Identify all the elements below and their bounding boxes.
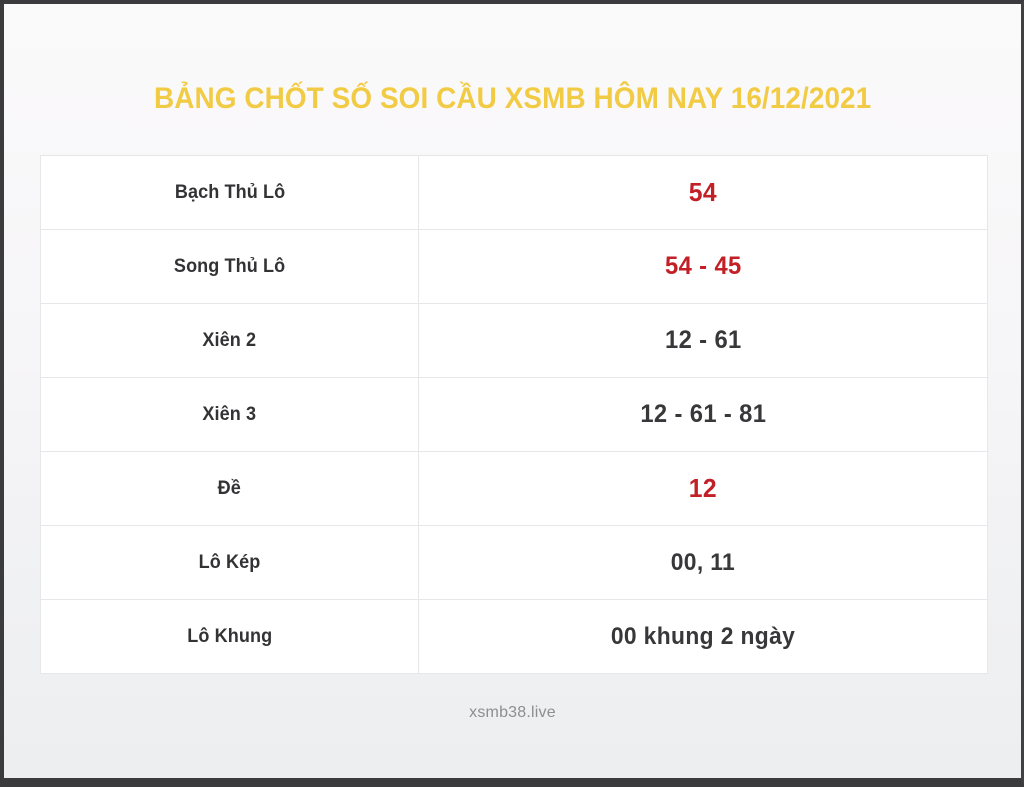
row-label-cell: Đề (41, 452, 419, 526)
table-row: Bạch Thủ Lô 54 (41, 156, 988, 230)
table-row: Song Thủ Lô 54 - 45 (41, 230, 988, 304)
row-value: 00, 11 (671, 549, 735, 577)
site-watermark: xsmb38.live (469, 704, 556, 721)
table-row: Lô Kép 00, 11 (41, 526, 988, 600)
row-label: Lô Kép (199, 552, 261, 574)
row-value: 12 - 61 (665, 326, 742, 355)
row-label-cell: Xiên 3 (41, 378, 419, 452)
page-canvas: BẢNG CHỐT SỐ SOI CẦU XSMB HÔM NAY 16/12/… (4, 4, 1021, 778)
screenshot-frame: BẢNG CHỐT SỐ SOI CẦU XSMB HÔM NAY 16/12/… (0, 0, 1024, 787)
row-value-cell: 12 - 61 (419, 304, 988, 378)
row-label: Xiên 2 (203, 330, 257, 352)
table-row: Đề 12 (41, 452, 988, 526)
footer: xsmb38.live (4, 704, 1021, 722)
row-label: Đề (218, 478, 241, 500)
row-value: 00 khung 2 ngày (611, 623, 795, 651)
row-label-cell: Bạch Thủ Lô (41, 156, 419, 230)
row-label-cell: Lô Kép (41, 526, 419, 600)
row-value: 54 - 45 (665, 252, 742, 281)
row-value-cell: 00, 11 (419, 526, 988, 600)
table-row: Lô Khung 00 khung 2 ngày (41, 600, 988, 674)
row-label-cell: Lô Khung (41, 600, 419, 674)
row-value-cell: 12 - 61 - 81 (419, 378, 988, 452)
table-row: Xiên 2 12 - 61 (41, 304, 988, 378)
row-value: 12 - 61 - 81 (640, 400, 766, 429)
row-value-cell: 54 (419, 156, 988, 230)
page-title-container: BẢNG CHỐT SỐ SOI CẦU XSMB HÔM NAY 16/12/… (4, 82, 1021, 116)
table-row: Xiên 3 12 - 61 - 81 (41, 378, 988, 452)
row-value-cell: 54 - 45 (419, 230, 988, 304)
soi-cau-table: Bạch Thủ Lô 54 Song Thủ Lô 54 - 45 (40, 155, 988, 674)
row-value: 54 (689, 177, 717, 208)
row-value: 12 (689, 473, 717, 504)
row-label: Song Thủ Lô (174, 256, 285, 278)
page-title: BẢNG CHỐT SỐ SOI CẦU XSMB HÔM NAY 16/12/… (154, 82, 871, 116)
row-label-cell: Xiên 2 (41, 304, 419, 378)
row-label: Lô Khung (187, 626, 272, 648)
row-label: Bạch Thủ Lô (175, 182, 285, 204)
row-label-cell: Song Thủ Lô (41, 230, 419, 304)
row-value-cell: 00 khung 2 ngày (419, 600, 988, 674)
row-value-cell: 12 (419, 452, 988, 526)
soi-cau-table-body: Bạch Thủ Lô 54 Song Thủ Lô 54 - 45 (41, 156, 988, 674)
row-label: Xiên 3 (203, 404, 257, 426)
